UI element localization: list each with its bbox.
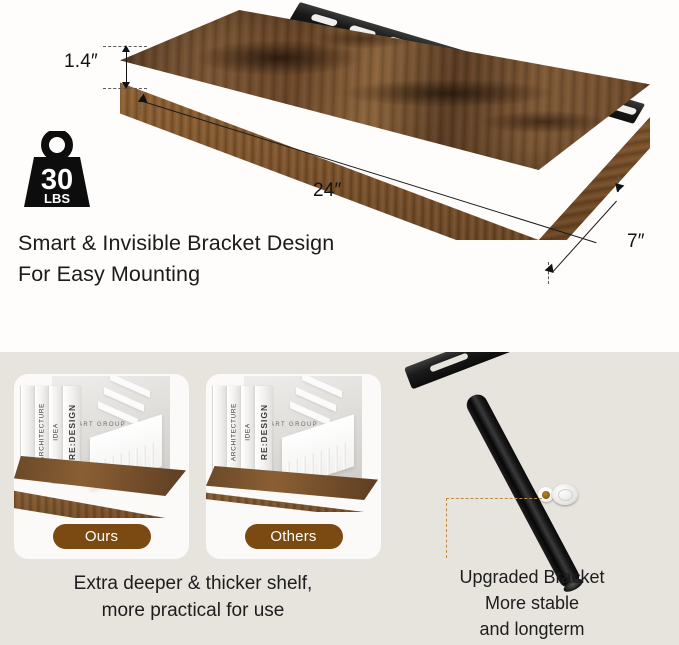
bracket-caption-line-2: More stable: [392, 590, 672, 616]
book-spine: ARCHITECTURE: [226, 386, 240, 478]
product-infographic: 1.4″ 24″ 7″ 30 LBS Smart & Inv: [0, 0, 679, 645]
dim-thickness-arrow-up: [122, 45, 130, 52]
dimension-thickness-label: 1.4″: [64, 51, 98, 73]
others-books: ARCHITECTURE IDEA RE:DESIGN: [212, 386, 312, 478]
shelf-top-surface: [120, 10, 650, 170]
headline-line-2: For Easy Mounting: [18, 259, 518, 290]
bracket-detail-panel: Upgraded Bracket More stable and longter…: [384, 352, 679, 645]
bracket-slot: [429, 353, 468, 373]
headline-line-1: Smart & Invisible Bracket Design: [18, 228, 518, 259]
bracket-cap-detail: [552, 484, 578, 505]
headline: Smart & Invisible Bracket Design For Eas…: [18, 228, 518, 290]
comparison-caption-line-1: Extra deeper & thicker shelf,: [12, 570, 374, 597]
top-section: 1.4″ 24″ 7″ 30 LBS Smart & Inv: [0, 0, 679, 352]
book-spine: IDEA: [240, 386, 254, 478]
comparison-card-ours: ART GROUP ARCHITECTURE: [14, 374, 189, 559]
bracket-caption-line-1: Upgraded Bracket: [392, 564, 672, 590]
book-spine: RE:DESIGN: [254, 386, 272, 478]
dim-thickness-line: [126, 49, 127, 85]
dimension-length-label: 24″: [313, 180, 341, 202]
badge-ours: Ours: [53, 524, 151, 549]
callout-line-vertical: [446, 498, 447, 558]
weight-capacity-badge: 30 LBS: [22, 131, 92, 211]
bottom-section: ART GROUP ARCHITECTURE: [0, 352, 679, 645]
dimension-depth-label: 7″: [627, 231, 645, 253]
comparison-caption: Extra deeper & thicker shelf, more pract…: [12, 570, 374, 624]
comparison-panel: ART GROUP ARCHITECTURE: [14, 374, 384, 564]
others-scene: ART GROUP ARCHITECTURE: [206, 374, 381, 519]
comparison-caption-line-2: more practical for use: [12, 597, 374, 624]
bracket-detail-bar: [404, 352, 679, 389]
weight-icon: 30 LBS: [22, 131, 92, 211]
book-spine: [212, 386, 226, 478]
dim-thickness-arrow-down: [122, 82, 130, 89]
bracket-caption-line-3: and longterm: [392, 616, 672, 642]
callout-line-horizontal: [446, 498, 542, 499]
badge-others: Others: [245, 524, 343, 549]
bracket-detail-caption: Upgraded Bracket More stable and longter…: [392, 564, 672, 642]
ours-scene: ART GROUP ARCHITECTURE: [14, 374, 189, 519]
comparison-card-others: ART GROUP ARCHITECTURE: [206, 374, 381, 559]
weight-unit: LBS: [44, 191, 70, 206]
